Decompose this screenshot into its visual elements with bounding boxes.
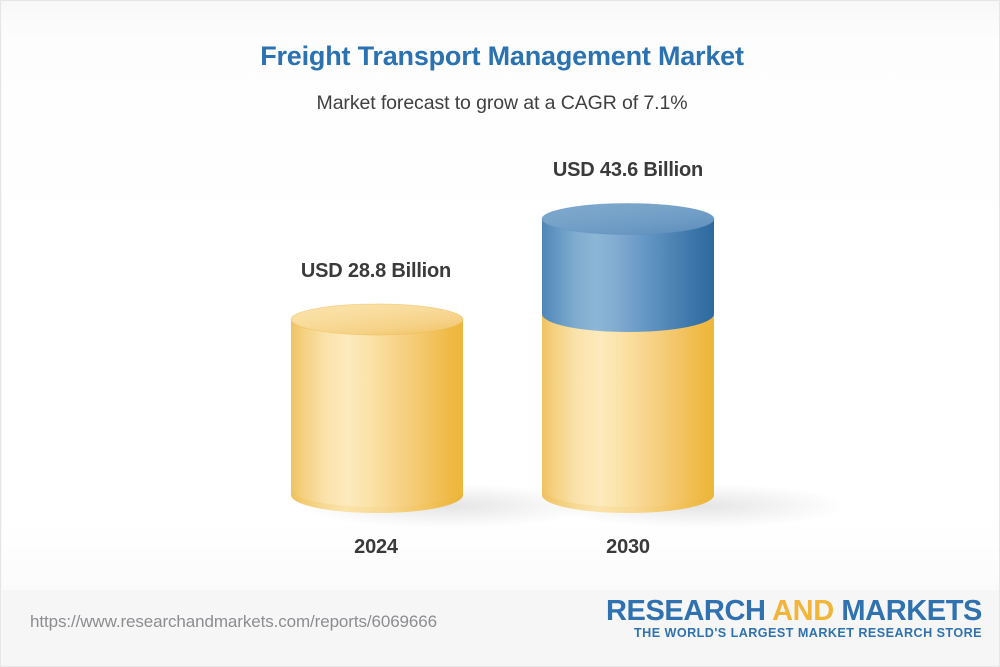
source-url-link[interactable]: https://www.researchandmarkets.com/repor… <box>30 612 437 632</box>
logo-tagline: THE WORLD'S LARGEST MARKET RESEARCH STOR… <box>606 627 982 641</box>
page-title: Freight Transport Management Market <box>2 41 1000 72</box>
plot-area: Freight Transport Management Market Mark… <box>2 2 1000 590</box>
bar-value-label-2024: USD 28.8 Billion <box>226 260 526 283</box>
logo-word-research: RESEARCH <box>606 595 772 627</box>
logo-wordmark: RESEARCH AND MARKETS <box>606 596 982 626</box>
footer-bar: https://www.researchandmarkets.com/repor… <box>2 590 1000 667</box>
logo-word-markets: MARKETS <box>834 595 982 627</box>
chart-canvas: Freight Transport Management Market Mark… <box>0 0 1000 667</box>
bar-cylinder-2024 <box>290 303 464 515</box>
logo-word-and: AND <box>772 595 834 627</box>
bar-category-label-2030: 2030 <box>478 536 778 559</box>
bar-cylinder-2030 <box>541 202 715 515</box>
bar-value-label-2030: USD 43.6 Billion <box>478 159 778 182</box>
brand-logo[interactable]: RESEARCH AND MARKETS THE WORLD'S LARGEST… <box>606 596 982 641</box>
chart-subtitle: Market forecast to grow at a CAGR of 7.1… <box>2 92 1000 115</box>
